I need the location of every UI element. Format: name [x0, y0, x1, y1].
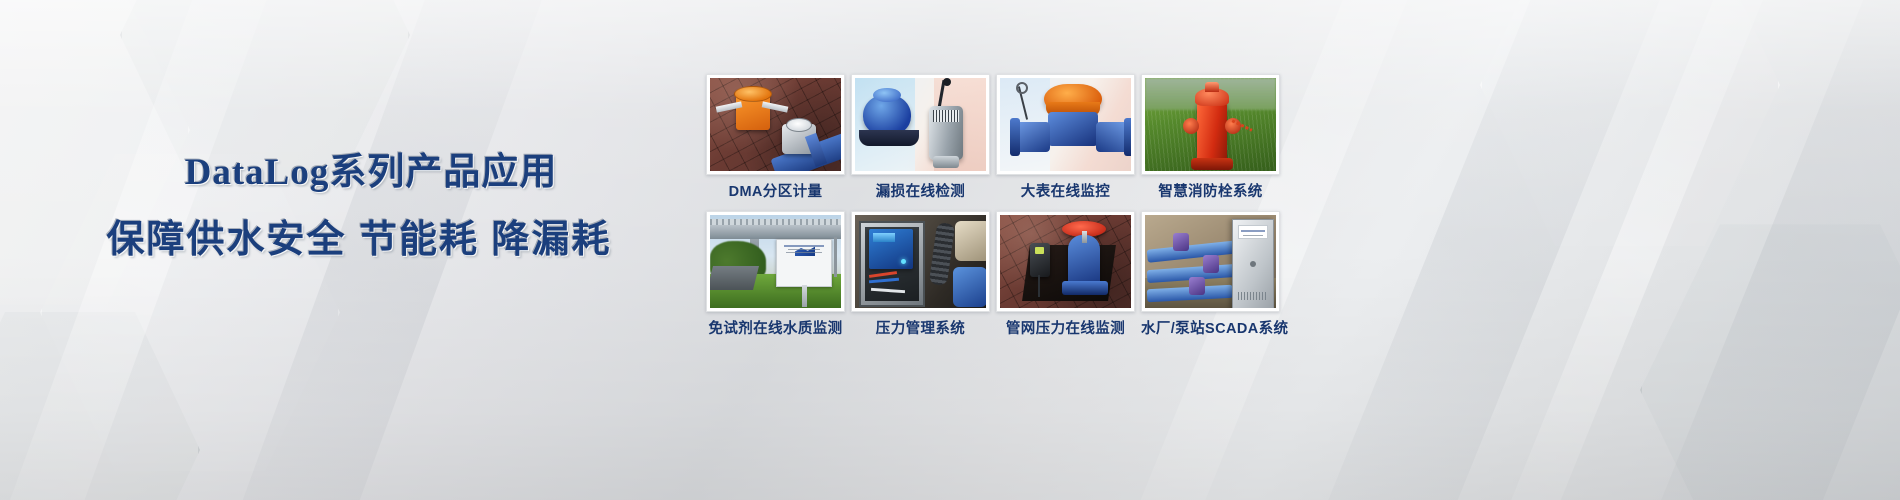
product-thumbnail[interactable]: [706, 211, 845, 312]
hydrant-cap: [1205, 82, 1219, 92]
meter-dial: [786, 118, 812, 132]
overpass-railing: [710, 219, 841, 225]
light-streak: [1604, 0, 1900, 500]
product-caption: 管网压力在线监测: [996, 320, 1135, 338]
logger-cap: [873, 88, 901, 102]
grid-row: DMA分区计量: [706, 74, 1286, 201]
sensor-label: [933, 110, 959, 122]
valve-actuator: [1189, 277, 1205, 295]
valve-flange-base: [1062, 281, 1108, 295]
blue-meter-body: [1048, 112, 1098, 146]
product-thumbnail[interactable]: [1141, 74, 1280, 175]
photo-dma-chamber: [710, 78, 841, 171]
grid-row: 免试剂在线水质监测: [706, 211, 1286, 338]
cover-lid: [734, 86, 772, 102]
logger-cable: [1038, 275, 1040, 297]
product-cell-leak-detection[interactable]: 漏损在线检测: [851, 74, 990, 201]
cabinet-knob: [1250, 261, 1256, 267]
product-cell-pressure-management[interactable]: 压力管理系统: [851, 211, 990, 338]
photo-water-quality-station: [710, 215, 841, 308]
hydrant-body: [1197, 100, 1227, 162]
flange-left: [1016, 122, 1050, 152]
photo-leak-logger: [855, 78, 986, 171]
photo-bulk-meter: [1000, 78, 1131, 171]
product-caption: DMA分区计量: [706, 183, 845, 201]
status-led: [901, 259, 906, 264]
headline-line-1: DataLog系列产品应用: [0, 150, 700, 196]
promo-banner: DataLog系列产品应用 保障供水安全 节能耗 降漏耗: [0, 0, 1900, 500]
product-cell-bulk-meter[interactable]: 大表在线监控: [996, 74, 1135, 201]
product-grid: DMA分区计量: [706, 74, 1286, 338]
sign-text-line: [784, 245, 824, 247]
light-pole: [834, 237, 837, 277]
sign-post: [802, 285, 807, 307]
blue-pump: [953, 267, 986, 307]
hydrant-outlet-left: [1183, 118, 1199, 134]
beige-tank: [955, 221, 986, 261]
product-thumbnail[interactable]: [706, 74, 845, 175]
headline-block: DataLog系列产品应用 保障供水安全 节能耗 降漏耗: [0, 150, 700, 264]
roadway: [710, 266, 759, 290]
monitoring-station-sign: [776, 239, 832, 287]
product-caption: 大表在线监控: [996, 183, 1135, 201]
logger-base: [859, 130, 919, 146]
product-thumbnail[interactable]: [1141, 211, 1280, 312]
hexagon-watermark: [1640, 210, 1900, 500]
cabinet-label-line: [1243, 235, 1263, 236]
photo-pump-station-scada: [1145, 215, 1276, 308]
photo-pressure-logger-chamber: [1000, 215, 1131, 308]
cabinet-label-plate: [1238, 225, 1268, 239]
product-caption: 水厂/泵站SCADA系统: [1141, 320, 1280, 338]
product-thumbnail[interactable]: [851, 74, 990, 175]
flange-ring-right: [1124, 118, 1131, 156]
product-thumbnail[interactable]: [851, 211, 990, 312]
product-cell-dma-metering[interactable]: DMA分区计量: [706, 74, 845, 201]
antenna-tip: [943, 78, 951, 86]
product-thumbnail[interactable]: [996, 74, 1135, 175]
headline-line-2: 保障供水安全 节能耗 降漏耗: [0, 216, 700, 264]
product-cell-scada[interactable]: 水厂/泵站SCADA系统: [1141, 211, 1280, 338]
product-cell-water-quality[interactable]: 免试剂在线水质监测: [706, 211, 845, 338]
product-caption: 智慧消防栓系统: [1141, 183, 1280, 201]
valve-stem: [1082, 231, 1087, 243]
photo-fire-hydrant: [1145, 78, 1276, 171]
controller-display: [873, 233, 895, 242]
overpass-deck: [710, 225, 841, 239]
cabinet-footer-text: [1238, 292, 1268, 300]
product-caption: 压力管理系统: [851, 320, 990, 338]
logger-indicator: [1035, 247, 1044, 254]
light-streak: [1273, 0, 1706, 500]
product-cell-network-pressure[interactable]: 管网压力在线监测: [996, 211, 1135, 338]
flange-ring-left: [1010, 118, 1020, 156]
valve-actuator: [1203, 255, 1219, 273]
probe-head: [1016, 82, 1028, 94]
cabinet-label-line: [1241, 230, 1265, 232]
product-cell-smart-hydrant[interactable]: 智慧消防栓系统: [1141, 74, 1280, 201]
product-caption: 免试剂在线水质监测: [706, 320, 845, 338]
sign-text-line: [786, 252, 822, 253]
photo-pressure-control-panel: [855, 215, 986, 308]
hexagon-watermark: [1480, 0, 1780, 260]
product-thumbnail[interactable]: [996, 211, 1135, 312]
light-streak: [1458, 0, 1808, 500]
hydrant-base: [1191, 158, 1233, 170]
sensor-collar: [933, 156, 959, 168]
product-caption: 漏损在线检测: [851, 183, 990, 201]
sign-logo: [795, 246, 815, 256]
valve-actuator: [1173, 233, 1189, 251]
hexagon-watermark: [0, 300, 200, 500]
sign-text-line: [788, 249, 820, 250]
